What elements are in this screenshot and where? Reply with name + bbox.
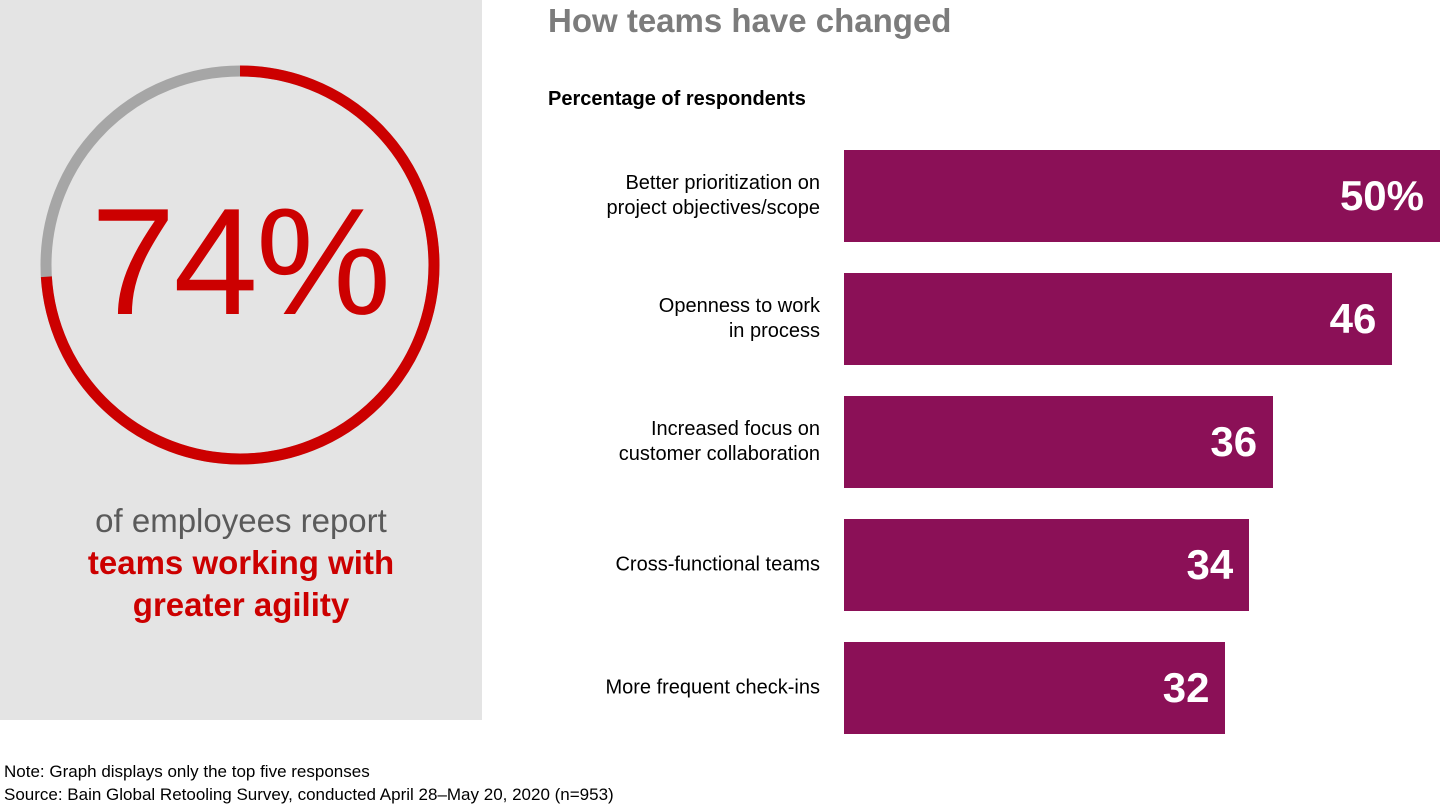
bar-category-label-line: customer collaboration <box>548 442 820 467</box>
stat-caption-line-1: of employees report <box>0 500 482 542</box>
bar-value-label: 34 <box>1187 544 1234 586</box>
bar-value-label: 50% <box>1340 175 1424 217</box>
bar-track: 50% <box>844 150 1440 242</box>
footnotes: Note: Graph displays only the top five r… <box>4 760 614 807</box>
bar-category-label: Openness to workin process <box>548 294 820 344</box>
bar-row: Cross-functional teams34 <box>548 519 1440 611</box>
stat-caption: of employees report teams working with g… <box>0 500 482 627</box>
bar-fill[interactable]: 50% <box>844 150 1440 242</box>
bar-category-label: More frequent check-ins <box>548 676 820 701</box>
bar-category-label-line: project objectives/scope <box>548 196 820 221</box>
bar-value-label: 32 <box>1163 667 1210 709</box>
bar-fill[interactable]: 34 <box>844 519 1249 611</box>
bar-category-label-line: Increased focus on <box>548 417 820 442</box>
bar-track: 34 <box>844 519 1440 611</box>
bar-track: 46 <box>844 273 1440 365</box>
bar-category-label: Better prioritization onproject objectiv… <box>548 171 820 221</box>
footnote-source: Source: Bain Global Retooling Survey, co… <box>4 783 614 806</box>
bar-fill[interactable]: 32 <box>844 642 1225 734</box>
chart-subtitle: Percentage of respondents <box>548 88 806 111</box>
bar-category-label-line: in process <box>548 319 820 344</box>
bar-category-label-line: More frequent check-ins <box>548 676 820 701</box>
chart-area: How teams have changed Percentage of res… <box>548 0 1440 810</box>
bar-value-label: 36 <box>1210 421 1257 463</box>
footnote-note: Note: Graph displays only the top five r… <box>4 760 614 783</box>
chart-title: How teams have changed <box>548 2 951 40</box>
bar-value-label: 46 <box>1330 298 1377 340</box>
stat-caption-line-2: teams working with <box>0 542 482 584</box>
bar-category-label: Cross-functional teams <box>548 553 820 578</box>
bar-category-label: Increased focus oncustomer collaboration <box>548 417 820 467</box>
donut-chart: 74% <box>40 65 440 465</box>
bar-row: More frequent check-ins32 <box>548 642 1440 734</box>
donut-value-label: 74% <box>40 65 440 465</box>
bar-row: Openness to workin process46 <box>548 273 1440 365</box>
stat-panel: 74% of employees report teams working wi… <box>0 0 482 720</box>
bar-category-label-line: Better prioritization on <box>548 171 820 196</box>
bar-row: Better prioritization onproject objectiv… <box>548 150 1440 242</box>
bar-category-label-line: Cross-functional teams <box>548 553 820 578</box>
stat-caption-line-3: greater agility <box>0 584 482 626</box>
bar-category-label-line: Openness to work <box>548 294 820 319</box>
bar-track: 36 <box>844 396 1440 488</box>
bar-fill[interactable]: 36 <box>844 396 1273 488</box>
bar-fill[interactable]: 46 <box>844 273 1392 365</box>
bar-row: Increased focus oncustomer collaboration… <box>548 396 1440 488</box>
bar-track: 32 <box>844 642 1440 734</box>
